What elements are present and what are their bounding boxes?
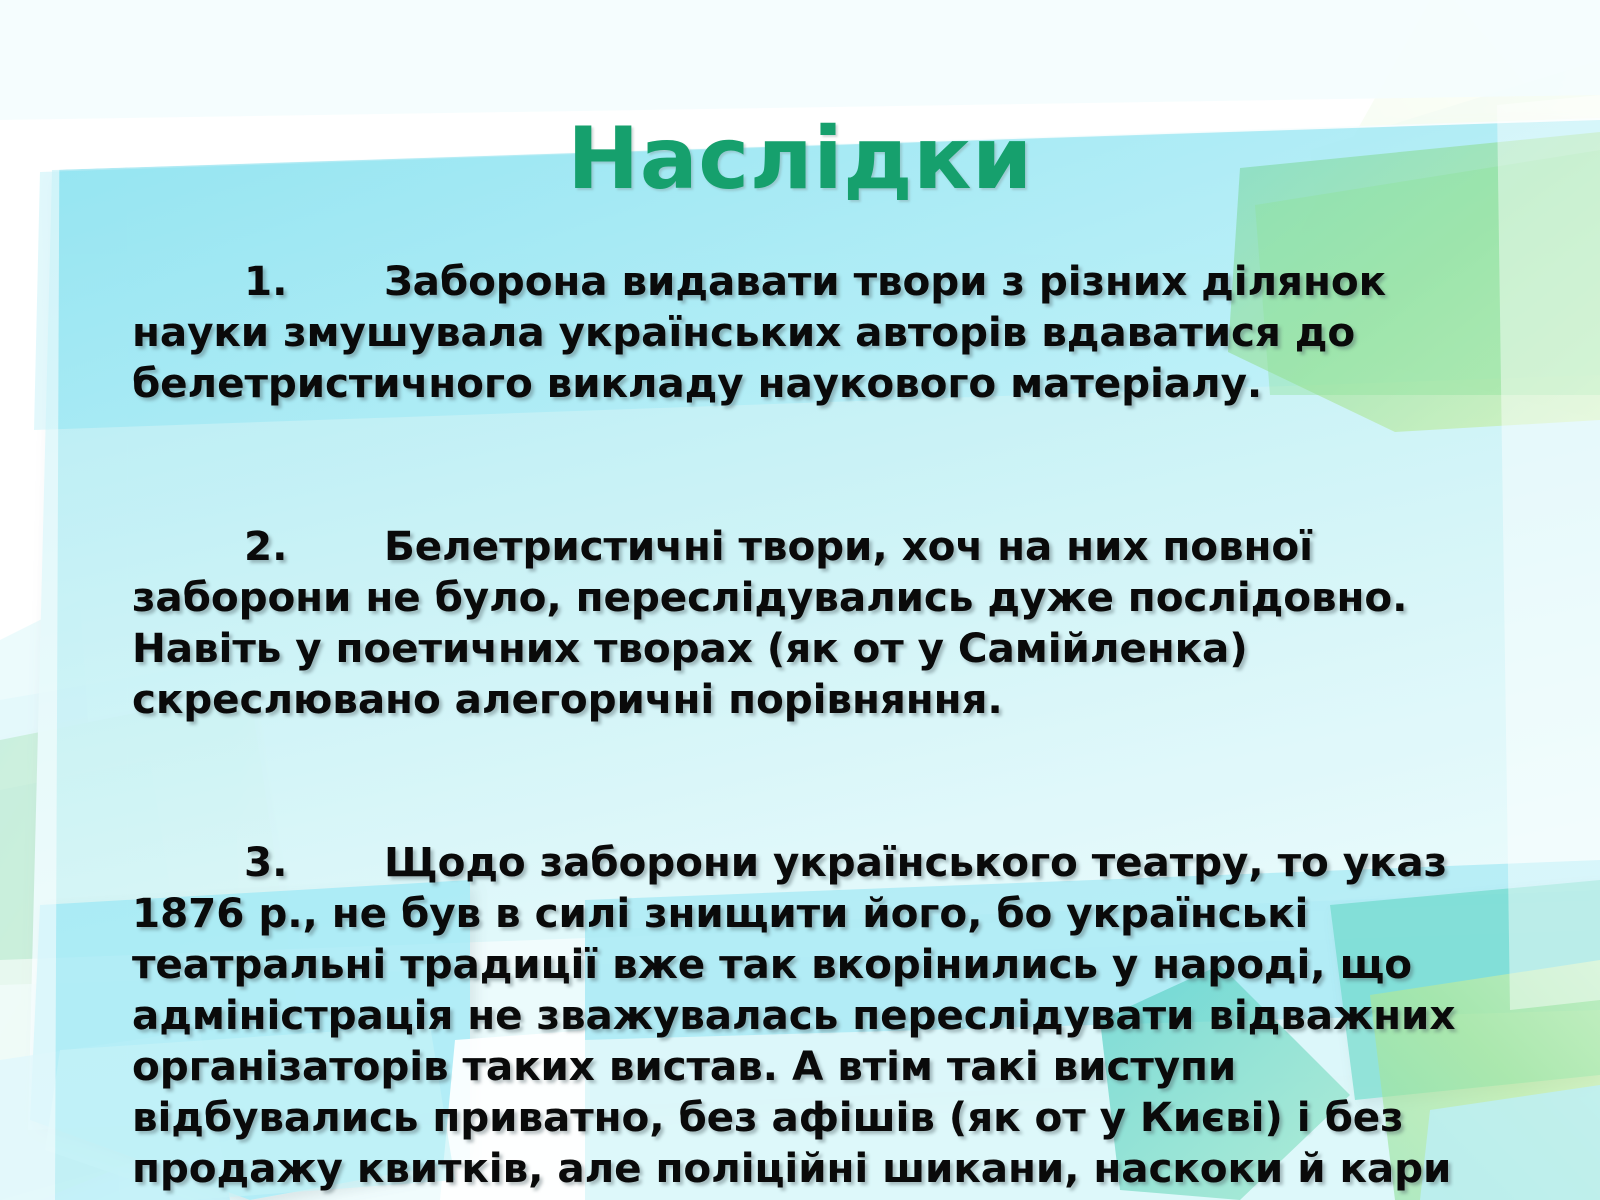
numbered-paragraph-3: 3. Щодо заборони українського театру, то… bbox=[132, 786, 1488, 1200]
paragraph-number-3: 3. bbox=[244, 838, 287, 886]
presentation-slide: Наслідки 1. Заборона видавати твори з рі… bbox=[0, 0, 1600, 1200]
paragraph-text-3: Щодо заборони українського театру, то ук… bbox=[132, 838, 1469, 1200]
numbered-paragraph-2: 2. Белетристичні твори, хоч на них повно… bbox=[132, 470, 1488, 776]
page-title: Наслідки bbox=[0, 116, 1600, 202]
numbered-paragraph-1: 1. Заборона видавати твори з різних діля… bbox=[132, 205, 1488, 460]
paragraph-number-1: 1. bbox=[244, 257, 287, 305]
body-text-block: 1. Заборона видавати твори з різних діля… bbox=[132, 205, 1488, 1200]
paragraph-number-2: 2. bbox=[244, 522, 287, 570]
slide-content: Наслідки 1. Заборона видавати твори з рі… bbox=[0, 0, 1600, 1200]
